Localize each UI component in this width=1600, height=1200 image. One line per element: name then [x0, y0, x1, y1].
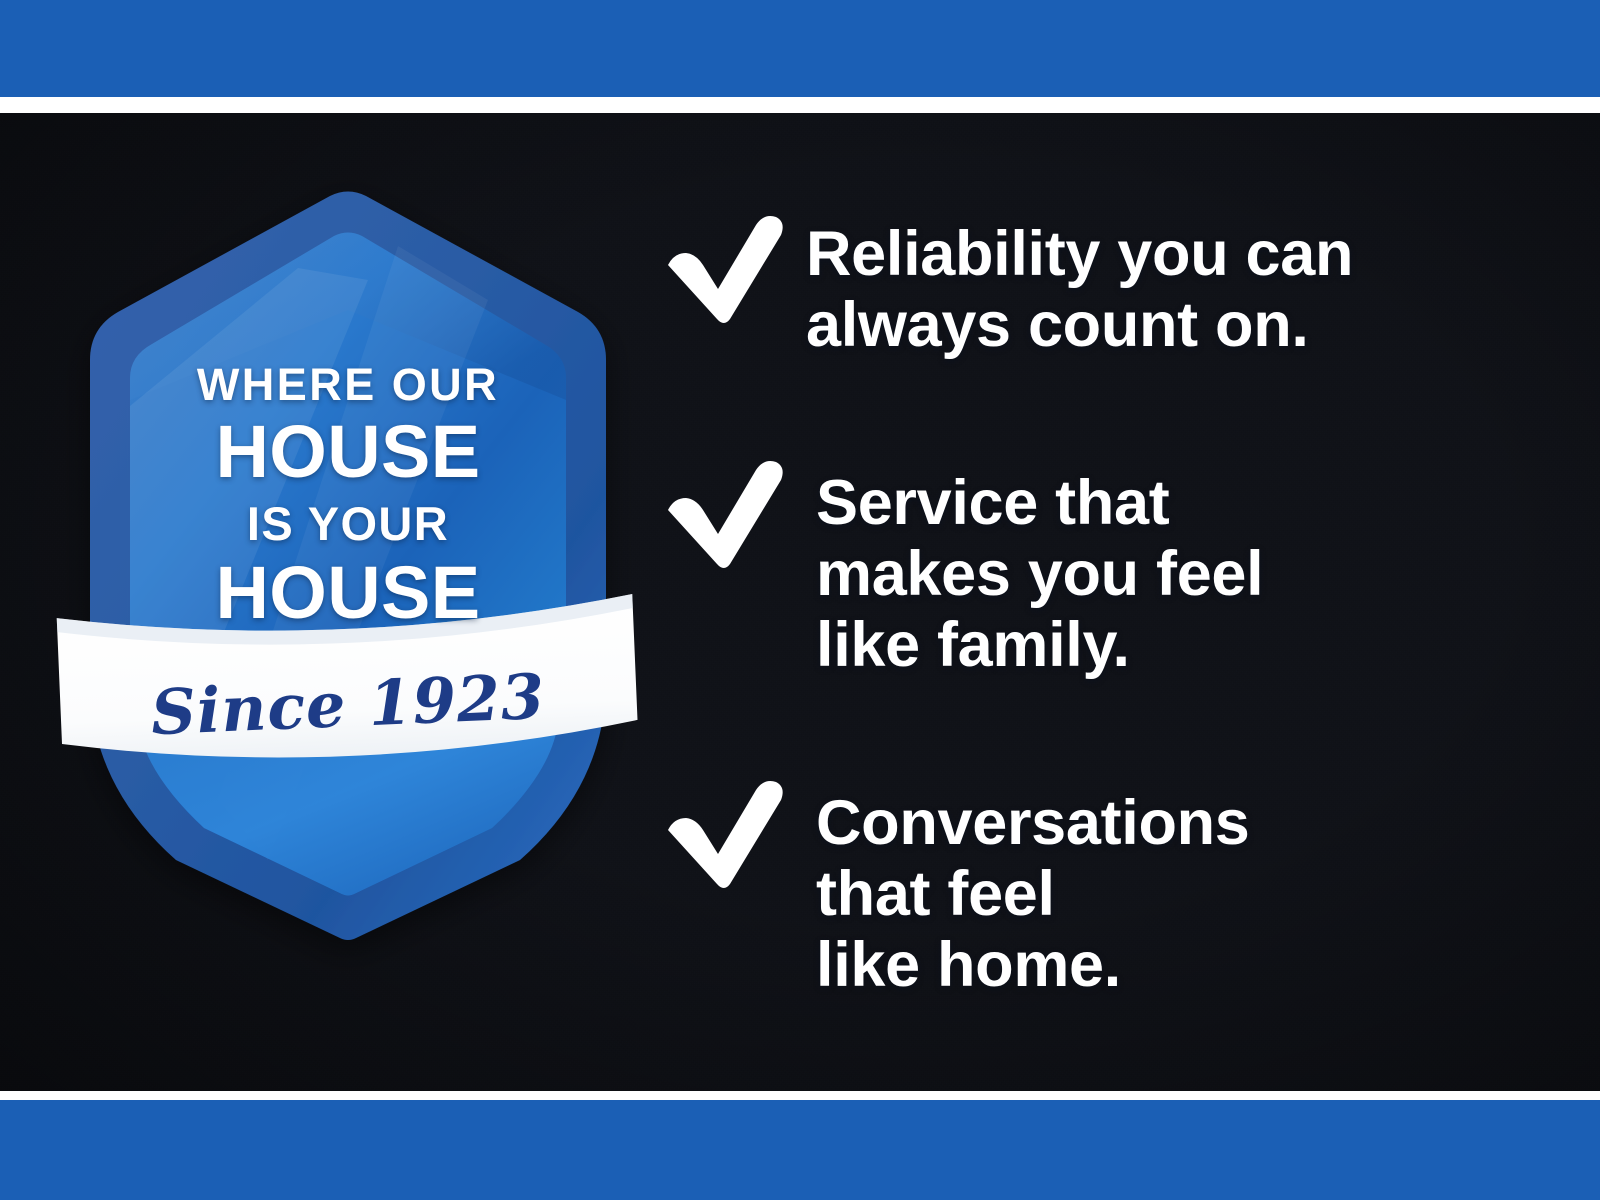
promo-poster: WHERE OUR HOUSE IS YOUR HOUSE Since 1923…: [0, 0, 1600, 1200]
bottom-divider-stripe: [0, 1091, 1600, 1100]
benefit-item-2: Service that makes you feel like family.: [660, 458, 1263, 682]
bottom-brand-bar: [0, 1100, 1600, 1200]
benefit-text-1: Reliability you can always count on.: [806, 213, 1353, 361]
checkmark-icon: [660, 778, 788, 890]
benefit-text-2: Service that makes you feel like family.: [816, 458, 1263, 682]
benefit-item-3: Conversations that feel like home.: [660, 778, 1250, 1002]
checkmark-icon: [660, 458, 788, 570]
top-divider-stripe: [0, 97, 1600, 113]
top-brand-bar: [0, 0, 1600, 97]
shield-badge: WHERE OUR HOUSE IS YOUR HOUSE Since 1923: [68, 160, 628, 960]
checkmark-icon: [660, 213, 788, 325]
benefit-text-3: Conversations that feel like home.: [816, 778, 1250, 1002]
benefit-item-1: Reliability you can always count on.: [660, 213, 1353, 361]
benefits-list: Reliability you can always count on. Ser…: [660, 113, 1540, 1092]
